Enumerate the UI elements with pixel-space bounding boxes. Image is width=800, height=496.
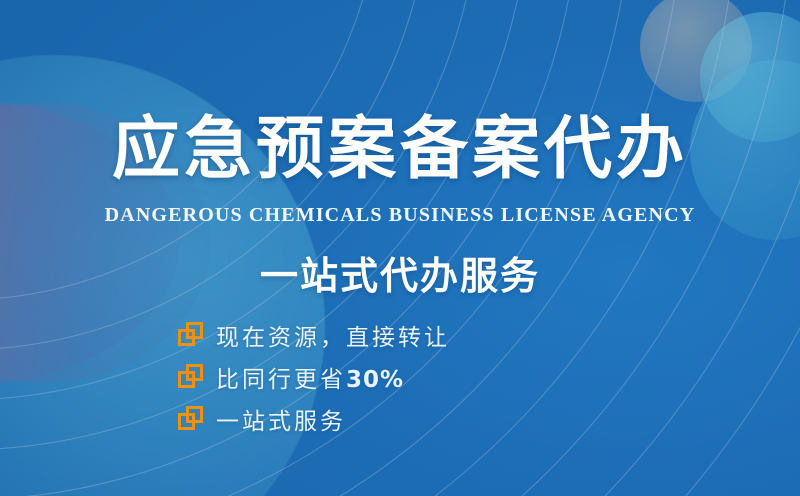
- feature-label: 现在资源，直接转让: [216, 318, 450, 352]
- feature-label-text: 比同行更省: [216, 367, 346, 393]
- overlapping-squares-icon: [178, 322, 204, 348]
- banner-content: 应急预案备案代办 DANGEROUS CHEMICALS BUSINESS LI…: [0, 0, 800, 496]
- feature-label: 比同行更省30%: [216, 360, 404, 394]
- overlapping-squares-icon: [178, 364, 204, 390]
- overlapping-squares-icon: [178, 406, 204, 432]
- list-item: 比同行更省30%: [178, 358, 450, 396]
- page-title: 应急预案备案代办: [0, 116, 800, 184]
- promo-banner: 应急预案备案代办 DANGEROUS CHEMICALS BUSINESS LI…: [0, 0, 800, 496]
- list-item: 现在资源，直接转让: [178, 316, 450, 354]
- list-item: 一站式服务: [178, 400, 450, 438]
- feature-label: 一站式服务: [216, 402, 346, 436]
- english-subtitle: DANGEROUS CHEMICALS BUSINESS LICENSE AGE…: [0, 204, 800, 227]
- feature-list: 现在资源，直接转让 比同行更省30% 一站式服务: [178, 316, 450, 442]
- feature-discount-value: 30%: [346, 367, 404, 393]
- service-subtitle: 一站式代办服务: [0, 245, 800, 300]
